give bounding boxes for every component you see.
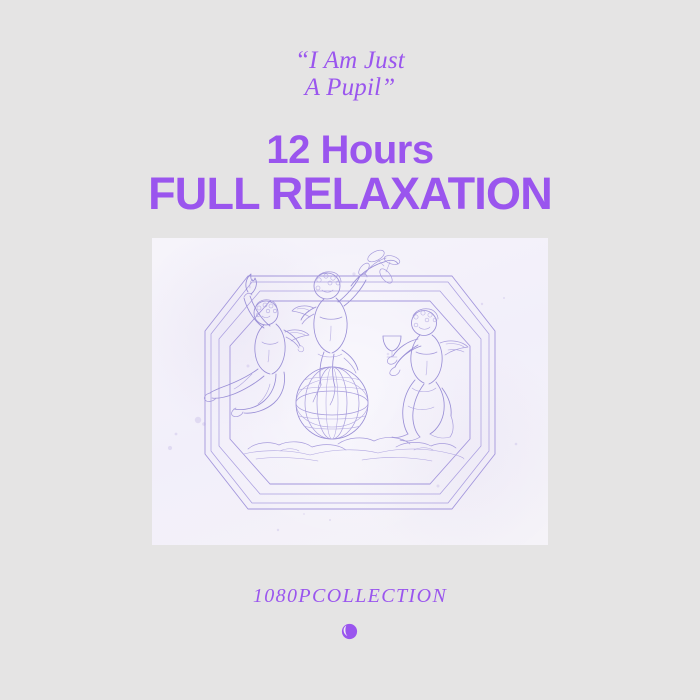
page-title: FULL RELAXATION xyxy=(0,170,700,218)
album-cover: “I Am Just A Pupil” 12 Hours FULL RELAXA… xyxy=(0,0,700,700)
title-duration: 12 Hours xyxy=(0,129,700,171)
cherub-right xyxy=(383,309,468,441)
brand-name: 1080PCOLLECTION xyxy=(0,585,700,608)
quote-line-1: “I Am Just xyxy=(0,47,700,74)
ground-cloud xyxy=(244,437,464,461)
crescent-circle-logo xyxy=(340,622,359,641)
artwork-panel: .ln { fill:none; stroke:#9a8fd6; stroke-… xyxy=(152,238,548,545)
cherub-engraving-illustration: .ln { fill:none; stroke:#9a8fd6; stroke-… xyxy=(152,238,548,545)
quote-text: “I Am Just A Pupil” xyxy=(0,47,700,101)
cherub-center xyxy=(292,248,401,405)
quote-line-2: A Pupil” xyxy=(0,74,700,101)
globe-ball xyxy=(296,367,368,439)
